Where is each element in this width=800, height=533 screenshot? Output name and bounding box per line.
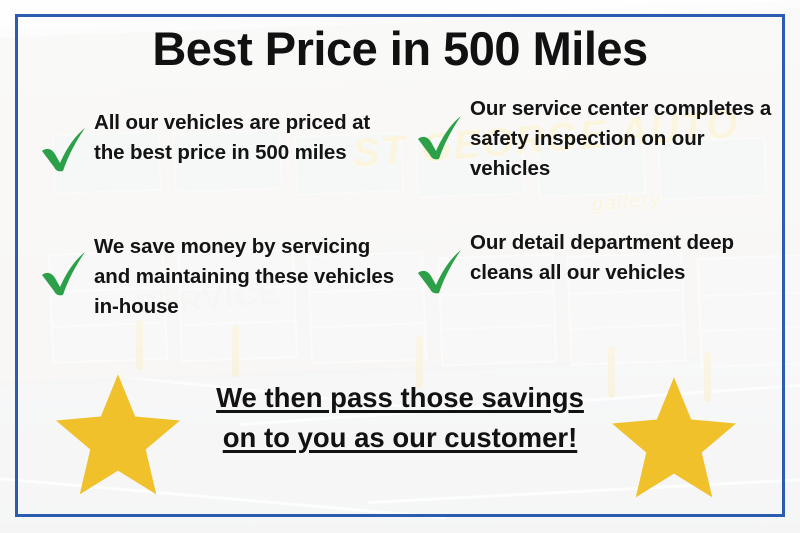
benefit-item-1: All our vehicles are priced at the best …: [38, 108, 386, 176]
benefit-item-2: Our service center completes a safety in…: [414, 94, 786, 184]
green-check-icon: [414, 244, 466, 298]
promo-poster: SERVICE ST GEORGE AUTO gallery Best Pric…: [0, 0, 800, 533]
green-check-icon: [414, 110, 466, 164]
benefit-text-3: We save money by servicing and maintaini…: [94, 232, 398, 322]
benefit-text-1: All our vehicles are priced at the best …: [94, 108, 386, 168]
benefit-text-2: Our service center completes a safety in…: [470, 94, 786, 184]
green-check-icon: [38, 122, 90, 176]
green-check-icon: [38, 246, 90, 300]
poster-content: Best Price in 500 Miles All our vehicles…: [0, 0, 800, 533]
benefit-text-4: Our detail department deep cleans all ou…: [470, 228, 744, 288]
gold-star-icon: [52, 371, 184, 499]
benefit-item-3: We save money by servicing and maintaini…: [38, 232, 398, 322]
gold-star-icon: [608, 374, 740, 502]
tagline-text: We then pass those savings on to you as …: [200, 378, 600, 458]
page-title: Best Price in 500 Miles: [0, 24, 800, 73]
benefit-item-4: Our detail department deep cleans all ou…: [414, 228, 744, 298]
